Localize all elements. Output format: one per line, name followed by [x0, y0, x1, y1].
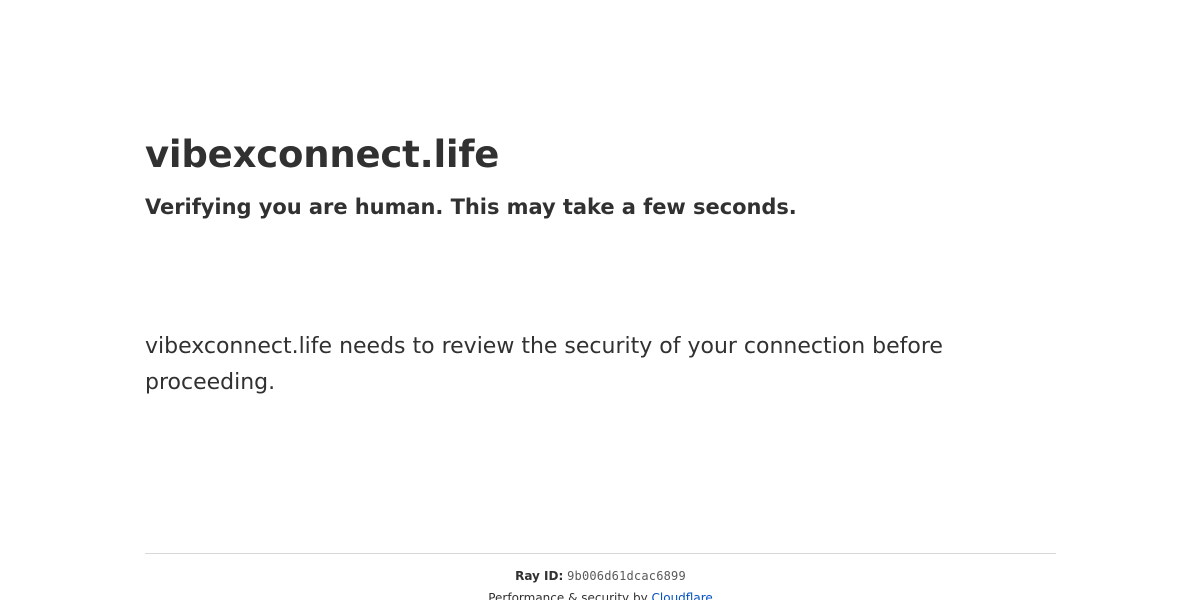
ray-id-line: Ray ID: 9b006d61dcac6899 [145, 569, 1056, 584]
page-title: vibexconnect.life [145, 0, 1056, 179]
attribution-line: Performance & security by Cloudflare [145, 584, 1056, 600]
turnstile-challenge-widget[interactable] [145, 239, 445, 325]
ray-id-label: Ray ID: [515, 569, 563, 583]
footer-content: Ray ID: 9b006d61dcac6899 Performance & s… [145, 554, 1056, 600]
challenge-description: vibexconnect.life needs to review the se… [145, 325, 945, 401]
main-content: vibexconnect.life Verifying you are huma… [145, 0, 1056, 401]
cloudflare-link[interactable]: Cloudflare [652, 591, 713, 600]
attribution-prefix: Performance & security by [488, 591, 651, 600]
ray-id-value: 9b006d61dcac6899 [567, 569, 686, 583]
challenge-page: vibexconnect.life Verifying you are huma… [0, 0, 1200, 600]
page-footer: Ray ID: 9b006d61dcac6899 Performance & s… [145, 553, 1056, 600]
verification-status-text: Verifying you are human. This may take a… [145, 179, 1056, 221]
